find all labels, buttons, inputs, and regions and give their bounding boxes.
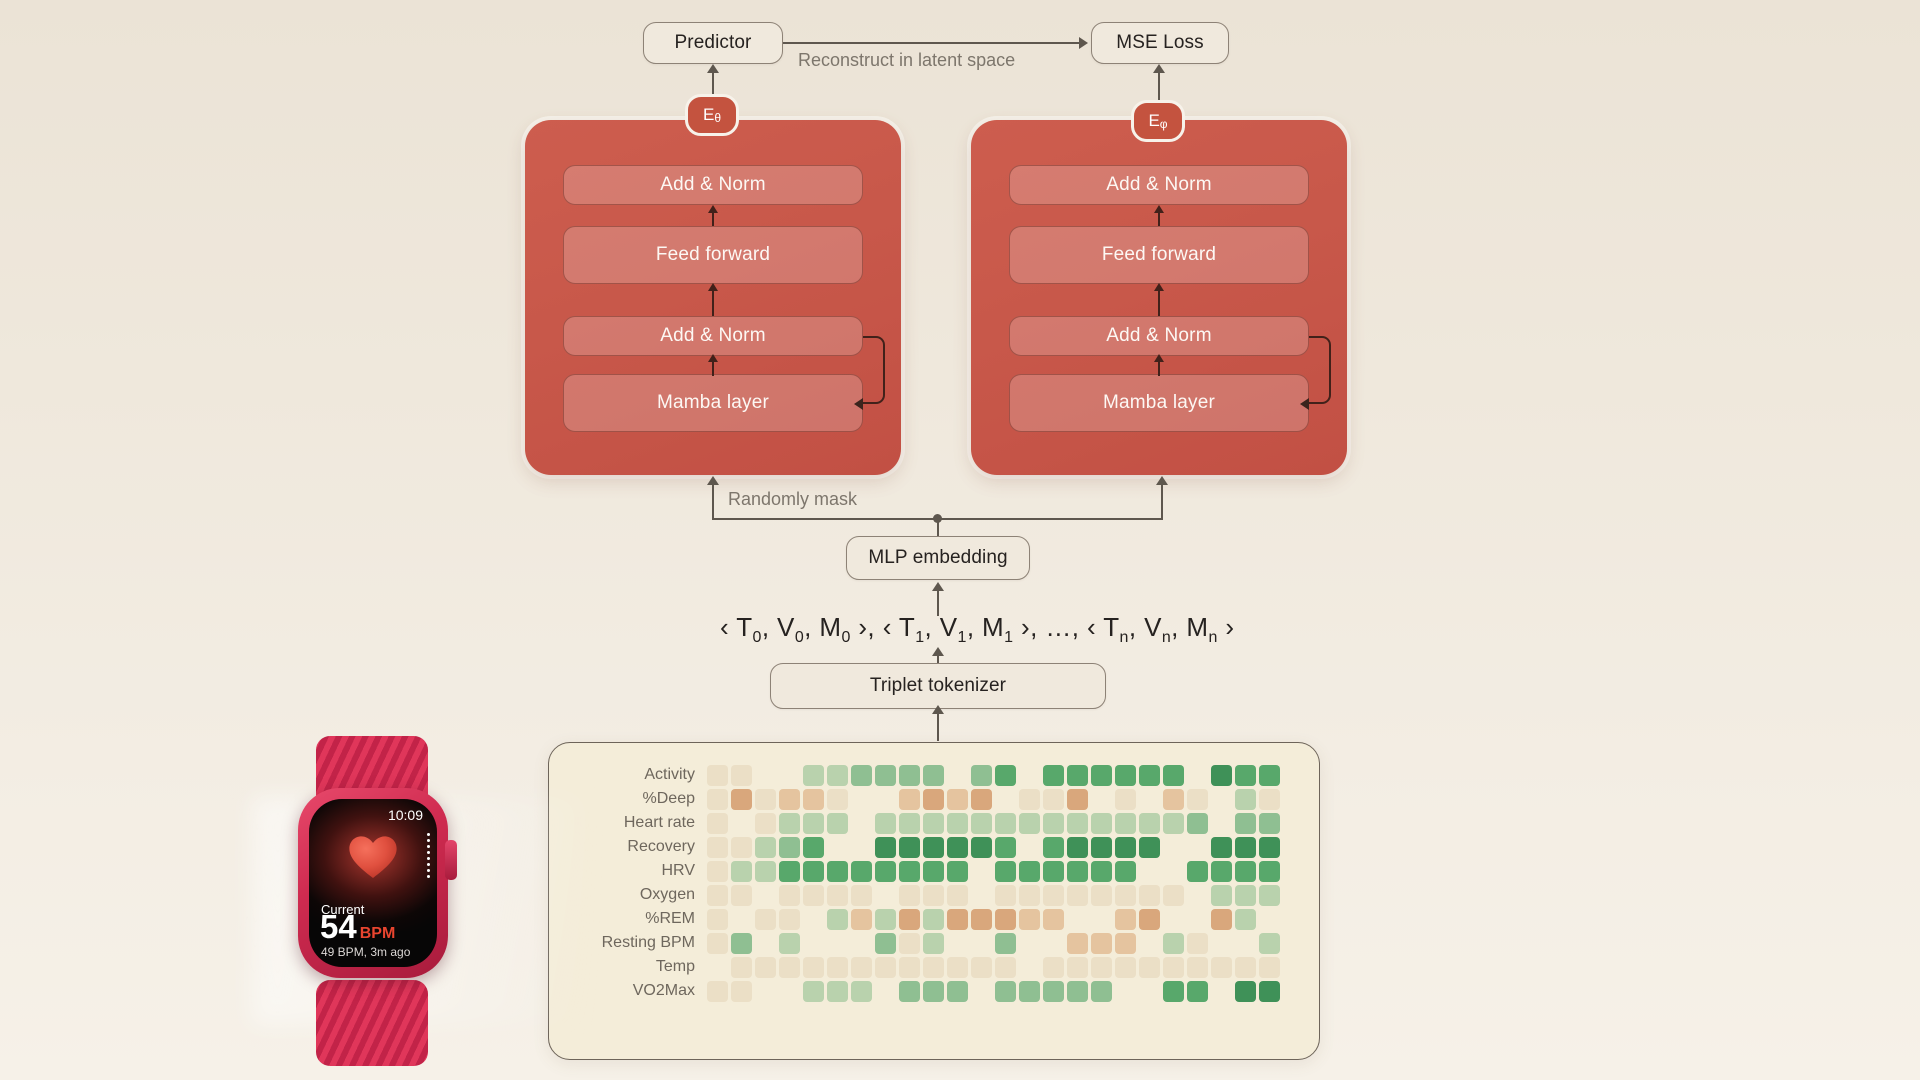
heatmap-cell [923, 909, 944, 930]
mask-right-arrowhead [1156, 476, 1168, 485]
heatmap-cell [1043, 765, 1064, 786]
heatmap-cell [971, 861, 992, 882]
tokens-to-mlp-arrowhead [932, 582, 944, 591]
watch-status-dot [427, 869, 430, 872]
heatmap-row: Heart rate [549, 811, 1319, 835]
watch-previous-reading: 49 BPM, 3m ago [321, 945, 410, 959]
watch-bpm-readout: 54 BPM [320, 910, 395, 943]
heatmap-cell [899, 957, 920, 978]
heatmap-cell [1019, 789, 1040, 810]
heatmap-cell [755, 813, 776, 834]
watch-band-bottom [316, 980, 428, 1066]
triplet-tokenizer-node[interactable]: Triplet tokenizer [770, 663, 1106, 709]
heatmap-cell [1259, 789, 1280, 810]
encoder-left-badge-subscript: θ [714, 111, 721, 125]
encoder-right-layer-add-norm-top[interactable]: Add & Norm [1009, 165, 1309, 205]
heatmap-to-tokenizer-line [937, 713, 939, 741]
watch-status-dot [427, 845, 430, 848]
heatmap-cell [755, 765, 776, 786]
layer-label: Add & Norm [660, 174, 765, 196]
predictor-to-mse-arrowhead [1079, 37, 1088, 49]
heatmap-row: %REM [549, 907, 1319, 931]
heatmap-cell [851, 861, 872, 882]
heatmap-cell [1163, 981, 1184, 1002]
heatmap-cell [1187, 765, 1208, 786]
heatmap-cell [1019, 981, 1040, 1002]
heatmap-cell [827, 909, 848, 930]
heatmap-cell [947, 861, 968, 882]
heatmap-cell [1019, 909, 1040, 930]
heatmap-cell [731, 861, 752, 882]
heatmap-cell [827, 789, 848, 810]
heatmap-cell [779, 765, 800, 786]
heatmap-row: Resting BPM [549, 931, 1319, 955]
heatmap-cell [779, 813, 800, 834]
heatmap-cell [707, 933, 728, 954]
heatmap-cell [1067, 837, 1088, 858]
watch-bpm-value: 54 [320, 910, 357, 943]
heatmap-cell [1259, 813, 1280, 834]
tokenizer-to-tokens-arrowhead [932, 647, 944, 656]
heatmap-cell [899, 885, 920, 906]
randomly-mask-label: Randomly mask [728, 489, 857, 510]
triplet-token: ‹ Tn, Vn, Mn › [1087, 612, 1234, 642]
heatmap-cell [875, 765, 896, 786]
heatmap-cell [1067, 789, 1088, 810]
heatmap-cell [1211, 909, 1232, 930]
heatmap-cell [995, 765, 1016, 786]
heatmap-cell [731, 933, 752, 954]
heatmap-cell [1043, 789, 1064, 810]
heatmap-cell [995, 813, 1016, 834]
heatmap-cell [1259, 861, 1280, 882]
heatmap-cell [1043, 861, 1064, 882]
layer-label: Add & Norm [1106, 325, 1211, 347]
encoder-left-arrowhead-ff-to-addnorm [708, 205, 718, 213]
heatmap-cell [851, 885, 872, 906]
heatmap-cell [1259, 837, 1280, 858]
heart-icon [346, 829, 400, 883]
heatmap-cell [731, 909, 752, 930]
heatmap-row: %Deep [549, 787, 1319, 811]
heatmap-cell [731, 885, 752, 906]
heatmap-cell [827, 837, 848, 858]
heatmap-cell [1259, 885, 1280, 906]
heatmap-cell [899, 909, 920, 930]
heatmap-cell [1067, 861, 1088, 882]
heatmap-cell [971, 981, 992, 1002]
heatmap-cell [827, 813, 848, 834]
heatmap-cell [1259, 933, 1280, 954]
heatmap-cell [707, 813, 728, 834]
heatmap-cell [1163, 957, 1184, 978]
heatmap-cell [1139, 885, 1160, 906]
heatmap-cell [1211, 813, 1232, 834]
heatmap-cell [995, 861, 1016, 882]
heatmap-row: Recovery [549, 835, 1319, 859]
heatmap-cell [1139, 909, 1160, 930]
heatmap-cell [779, 885, 800, 906]
heatmap-cell [899, 981, 920, 1002]
heatmap-cell [1187, 933, 1208, 954]
heatmap-cell [971, 789, 992, 810]
heatmap-cell [827, 885, 848, 906]
heatmap-cell [1043, 933, 1064, 954]
heatmap-cell [947, 789, 968, 810]
heatmap-cell [1259, 765, 1280, 786]
heatmap-cell [851, 765, 872, 786]
heatmap-cell [1067, 933, 1088, 954]
heatmap-cell [1067, 909, 1088, 930]
heatmap-cell [1043, 957, 1064, 978]
mlp-embedding-node[interactable]: MLP embedding [846, 536, 1030, 580]
heatmap-row: Activity [549, 763, 1319, 787]
heatmap-cell [731, 957, 752, 978]
heatmap-cell [923, 789, 944, 810]
heatmap-rows: Activity%DeepHeart rateRecoveryHRVOxygen… [549, 763, 1319, 1003]
heatmap-cell [731, 813, 752, 834]
heatmap-cell [995, 933, 1016, 954]
heatmap-cell [875, 861, 896, 882]
heatmap-cell [1139, 813, 1160, 834]
heatmap-cell [947, 813, 968, 834]
heatmap-cell [803, 957, 824, 978]
heatmap-cell [995, 885, 1016, 906]
heatmap-cell [1091, 813, 1112, 834]
watch-status-dot [427, 851, 430, 854]
heatmap-cell [899, 933, 920, 954]
watch-time: 10:09 [388, 807, 423, 823]
heatmap-cell [755, 981, 776, 1002]
encoder-right-arrowhead-mamba-to-addnorm [1154, 354, 1164, 362]
heatmap-cell [1091, 933, 1112, 954]
heatmap-row-cells [707, 981, 1283, 1002]
triplet-ellipsis: …, [1045, 612, 1087, 642]
encoder-right-badge: Eφ [1131, 100, 1185, 142]
watch-status-dot [427, 833, 430, 836]
heatmap-cell [1235, 765, 1256, 786]
heatmap-cell [971, 909, 992, 930]
heatmap-cell [1139, 789, 1160, 810]
heatmap-to-tokenizer-arrowhead [932, 705, 944, 714]
heatmap-cell [1139, 957, 1160, 978]
heatmap-cell [803, 861, 824, 882]
heatmap-cell [923, 861, 944, 882]
heatmap-cell [851, 957, 872, 978]
smartwatch-illustration: 10:09 Current 54 BPM 49 BPM, 3m ago [272, 736, 472, 1066]
heatmap-cell [707, 861, 728, 882]
heatmap-cell [803, 765, 824, 786]
heatmap-cell [755, 837, 776, 858]
heatmap-cell [1115, 765, 1136, 786]
wearable-metrics-heatmap[interactable]: Activity%DeepHeart rateRecoveryHRVOxygen… [548, 742, 1320, 1060]
heatmap-row-cells [707, 837, 1283, 858]
heatmap-cell [1187, 789, 1208, 810]
heatmap-row-cells [707, 813, 1283, 834]
heatmap-cell [923, 933, 944, 954]
encoder-left-layer-mamba[interactable]: Mamba layer [563, 374, 863, 432]
encoder-left-residual-path [863, 336, 885, 404]
watch-bpm-unit: BPM [360, 925, 396, 943]
heatmap-cell [1163, 789, 1184, 810]
encoder-right-layer-feed-forward[interactable]: Feed forward [1009, 226, 1309, 284]
heatmap-cell [851, 933, 872, 954]
heatmap-row: Temp [549, 955, 1319, 979]
heatmap-cell [827, 933, 848, 954]
heatmap-row: Oxygen [549, 883, 1319, 907]
heatmap-cell [947, 933, 968, 954]
heatmap-cell [971, 765, 992, 786]
triplet-gap [875, 612, 883, 642]
heatmap-cell [1259, 957, 1280, 978]
heatmap-cell [1163, 837, 1184, 858]
heatmap-cell [1019, 933, 1040, 954]
heatmap-cell [995, 957, 1016, 978]
heatmap-cell [1043, 885, 1064, 906]
heatmap-cell [1067, 981, 1088, 1002]
heatmap-cell [1115, 789, 1136, 810]
heatmap-cell [1187, 861, 1208, 882]
layer-label: Add & Norm [1106, 174, 1211, 196]
heatmap-cell [1115, 885, 1136, 906]
heatmap-cell [707, 957, 728, 978]
heatmap-cell [779, 789, 800, 810]
watch-screen[interactable]: 10:09 Current 54 BPM 49 BPM, 3m ago [309, 799, 437, 967]
encoder-left-arrow-mamba-to-addnorm [712, 360, 714, 376]
heatmap-cell [755, 861, 776, 882]
heatmap-cell [827, 765, 848, 786]
predictor-to-mse-line [783, 42, 1079, 44]
heatmap-cell [1091, 765, 1112, 786]
heatmap-cell [971, 813, 992, 834]
watch-crown[interactable] [445, 840, 457, 880]
heatmap-cell [1211, 957, 1232, 978]
heatmap-row-cells [707, 885, 1283, 906]
heatmap-cell [923, 957, 944, 978]
encoder-left-arrowhead-addnorm-to-ff [708, 283, 718, 291]
heatmap-cell [1067, 765, 1088, 786]
heatmap-cell [827, 957, 848, 978]
heatmap-cell [731, 765, 752, 786]
heatmap-cell [947, 765, 968, 786]
heatmap-cell [851, 813, 872, 834]
mask-left-branch-line [712, 484, 714, 520]
heatmap-cell [707, 885, 728, 906]
encoder-right-arrowhead-ff-to-addnorm [1154, 205, 1164, 213]
heatmap-cell [923, 765, 944, 786]
heatmap-cell [1067, 885, 1088, 906]
heatmap-cell [827, 981, 848, 1002]
heatmap-cell [1043, 837, 1064, 858]
heatmap-cell [779, 837, 800, 858]
heatmap-cell [1211, 837, 1232, 858]
heatmap-cell [1091, 885, 1112, 906]
heatmap-cell [1091, 957, 1112, 978]
mask-right-branch-line [1161, 484, 1163, 520]
layer-label: Feed forward [656, 244, 770, 266]
heatmap-cell [947, 837, 968, 858]
mask-left-arrowhead [707, 476, 719, 485]
heatmap-cell [803, 909, 824, 930]
heatmap-cell [803, 837, 824, 858]
heatmap-cell [899, 789, 920, 810]
heatmap-cell [707, 981, 728, 1002]
heatmap-cell [779, 957, 800, 978]
heatmap-cell [1043, 909, 1064, 930]
watch-status-dot [427, 857, 430, 860]
heatmap-cell [779, 909, 800, 930]
heatmap-cell [851, 789, 872, 810]
heatmap-cell [875, 957, 896, 978]
heatmap-cell [1235, 861, 1256, 882]
encoder-left-layer-add-norm-bottom[interactable]: Add & Norm [563, 316, 863, 356]
heatmap-cell [803, 933, 824, 954]
encoder-right-badge-symbol: E [1148, 111, 1159, 131]
encoder-online[interactable]: Add & Norm Feed forward Add & Norm Mamba… [525, 120, 901, 475]
heatmap-cell [1163, 861, 1184, 882]
heatmap-cell [1091, 981, 1112, 1002]
encoder-left-arrowhead-mamba-to-addnorm [708, 354, 718, 362]
heatmap-cell [875, 981, 896, 1002]
heatmap-cell [875, 909, 896, 930]
heatmap-cell [947, 885, 968, 906]
mlp-embedding-label: MLP embedding [868, 547, 1007, 569]
heatmap-row-cells [707, 957, 1283, 978]
encoder-right-layer-add-norm-bottom[interactable]: Add & Norm [1009, 316, 1309, 356]
reconstruct-label: Reconstruct in latent space [798, 50, 1015, 71]
watch-status-dot [427, 863, 430, 866]
heatmap-cell [755, 909, 776, 930]
diagram-canvas: Predictor MSE Loss Reconstruct in latent… [0, 0, 1920, 1080]
encoder-left-layer-add-norm-top[interactable]: Add & Norm [563, 165, 863, 205]
heatmap-row-cells [707, 909, 1283, 930]
heatmap-cell [779, 861, 800, 882]
heatmap-cell [755, 933, 776, 954]
heatmap-cell [707, 837, 728, 858]
heatmap-cell [971, 885, 992, 906]
heatmap-cell [1163, 765, 1184, 786]
heatmap-cell [1187, 909, 1208, 930]
heatmap-cell [1163, 885, 1184, 906]
heatmap-cell [1235, 837, 1256, 858]
heatmap-cell [1115, 933, 1136, 954]
mse-loss-node[interactable]: MSE Loss [1091, 22, 1229, 64]
encoder-target[interactable]: Add & Norm Feed forward Add & Norm Mamba… [971, 120, 1347, 475]
encoder-left-layer-feed-forward[interactable]: Feed forward [563, 226, 863, 284]
heatmap-cell [995, 837, 1016, 858]
heatmap-cell [851, 909, 872, 930]
heatmap-cell [1115, 981, 1136, 1002]
heatmap-cell [875, 837, 896, 858]
layer-label: Mamba layer [1103, 392, 1215, 414]
heatmap-cell [1211, 981, 1232, 1002]
heatmap-cell [947, 957, 968, 978]
layer-label: Feed forward [1102, 244, 1216, 266]
heatmap-cell [755, 957, 776, 978]
heatmap-cell [1043, 813, 1064, 834]
heatmap-cell [1115, 909, 1136, 930]
heatmap-row-cells [707, 765, 1283, 786]
heatmap-cell [971, 957, 992, 978]
heatmap-cell [923, 813, 944, 834]
heatmap-cell [1091, 861, 1112, 882]
heatmap-cell [851, 981, 872, 1002]
heatmap-cell [1043, 981, 1064, 1002]
heatmap-cell [1235, 957, 1256, 978]
heatmap-cell [731, 789, 752, 810]
heatmap-cell [1187, 813, 1208, 834]
predictor-node[interactable]: Predictor [643, 22, 783, 64]
heatmap-cell [1019, 837, 1040, 858]
encoder-right-arrowhead-addnorm-to-ff [1154, 283, 1164, 291]
heatmap-cell [1019, 885, 1040, 906]
heatmap-cell [1139, 837, 1160, 858]
heatmap-cell [1235, 885, 1256, 906]
encoder-left-badge: Eθ [685, 94, 739, 136]
heatmap-cell [1211, 933, 1232, 954]
heatmap-row-cells [707, 933, 1283, 954]
heatmap-cell [803, 981, 824, 1002]
heatmap-cell [1139, 981, 1160, 1002]
predictor-label: Predictor [675, 32, 752, 54]
heatmap-cell [1091, 837, 1112, 858]
heatmap-cell [1187, 957, 1208, 978]
heatmap-cell [899, 765, 920, 786]
triplet-token: ‹ T1, V1, M1 ›, [883, 612, 1038, 642]
triplet-tokenizer-label: Triplet tokenizer [870, 675, 1006, 697]
encoder-right-arrow-mamba-to-addnorm [1158, 360, 1160, 376]
heatmap-cell [1115, 861, 1136, 882]
encoder-right-badge-subscript: φ [1160, 117, 1168, 131]
heatmap-row-label: Activity [549, 766, 707, 784]
heatmap-cell [995, 909, 1016, 930]
heatmap-cell [779, 933, 800, 954]
heatmap-cell [1019, 957, 1040, 978]
heatmap-cell [1211, 885, 1232, 906]
heatmap-row: VO2Max [549, 979, 1319, 1003]
watch-status-dots [427, 833, 430, 878]
heatmap-cell [899, 813, 920, 834]
heatmap-cell [1019, 765, 1040, 786]
heatmap-cell [971, 933, 992, 954]
heatmap-cell [755, 789, 776, 810]
encoder-right-layer-mamba[interactable]: Mamba layer [1009, 374, 1309, 432]
heatmap-cell [1211, 789, 1232, 810]
heatmap-row-cells [707, 789, 1283, 810]
ephi-to-mse-arrowhead [1153, 64, 1165, 73]
heatmap-cell [731, 837, 752, 858]
heatmap-cell [875, 813, 896, 834]
heatmap-cell [851, 837, 872, 858]
heatmap-cell [875, 789, 896, 810]
heatmap-cell [707, 765, 728, 786]
heatmap-cell [1235, 981, 1256, 1002]
etheta-to-predictor-arrowhead [707, 64, 719, 73]
heatmap-cell [1187, 981, 1208, 1002]
heatmap-cell [1259, 981, 1280, 1002]
encoder-left-badge-symbol: E [703, 105, 714, 125]
heatmap-cell [995, 789, 1016, 810]
heatmap-cell [1115, 957, 1136, 978]
heatmap-cell [1139, 861, 1160, 882]
heatmap-cell [1139, 933, 1160, 954]
heatmap-cell [827, 861, 848, 882]
heatmap-row: HRV [549, 859, 1319, 883]
heatmap-cell [875, 933, 896, 954]
heatmap-cell [803, 789, 824, 810]
layer-label: Add & Norm [660, 325, 765, 347]
heatmap-cell [947, 981, 968, 1002]
